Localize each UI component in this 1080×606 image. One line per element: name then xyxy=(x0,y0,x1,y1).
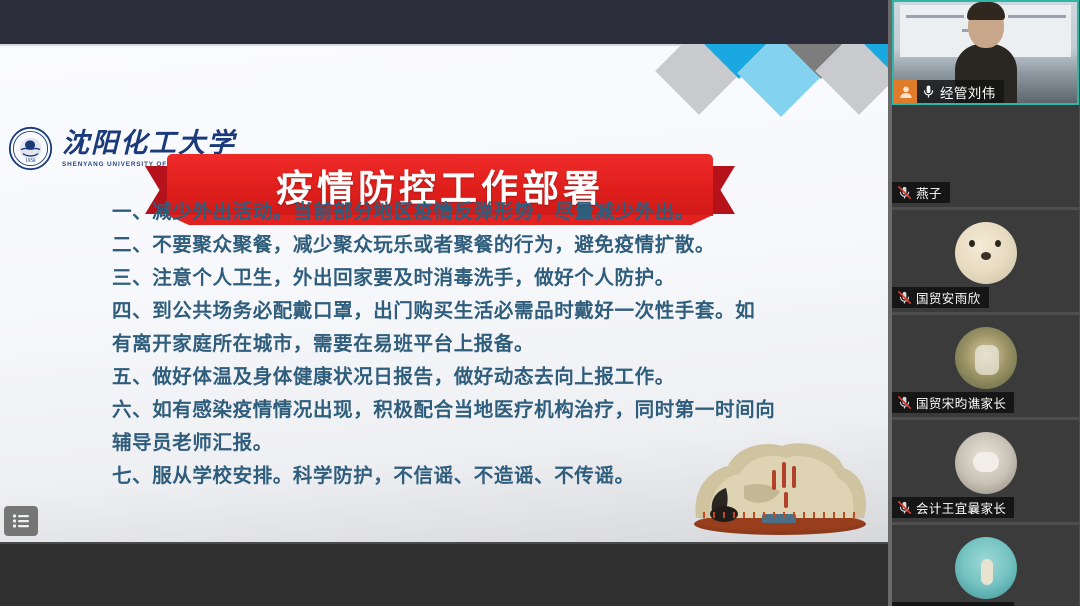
participant-name-badge: 燕子 xyxy=(892,182,950,203)
participant-tile[interactable]: 金融郑小任家长 xyxy=(892,525,1079,606)
participant-filmstrip[interactable]: 经管刘伟 燕子 国贸安雨欣 xyxy=(888,0,1080,606)
participant-name: 国贸安雨欣 xyxy=(916,288,981,307)
participant-name: 燕子 xyxy=(916,183,942,202)
filmstrip-tile-list: 经管刘伟 燕子 国贸安雨欣 xyxy=(892,0,1080,606)
svg-text:1958: 1958 xyxy=(25,158,36,163)
slide-text-line: 一、减少外出活动。当前部分地区疫情反弹形势，尽量减少外出。 xyxy=(112,196,848,229)
slide-text-line: 二、不要聚众聚餐，减少聚众玩乐或者聚餐的行为，避免疫情扩散。 xyxy=(112,229,848,262)
slide-text-line: 四、到公共场务必配戴口罩，出门购买生活必需品时戴好一次性手套。如 xyxy=(112,295,848,328)
slide-text-line: 三、注意个人卫生，外出回家要及时消毒洗手，做好个人防护。 xyxy=(112,262,848,295)
participant-name-badge: 经管刘伟 xyxy=(894,80,1004,103)
microphone-muted-icon xyxy=(897,290,912,305)
participant-name-badge: 金融郑小任家长 xyxy=(892,602,1014,606)
host-avatar xyxy=(894,80,917,103)
avatar xyxy=(955,327,1017,389)
participant-tile[interactable]: 国贸安雨欣 xyxy=(892,210,1079,315)
avatar xyxy=(955,222,1017,284)
microphone-muted-icon xyxy=(897,185,912,200)
participant-name-badge: 会计王宜曩家长 xyxy=(892,497,1014,518)
participant-name: 会计王宜曩家长 xyxy=(916,498,1006,517)
stage-letterbox-top xyxy=(0,0,888,43)
participant-tile[interactable]: 国贸宋昀谯家长 xyxy=(892,315,1079,420)
meeting-window: 1958 沈阳化工大学 SHENYANG UNIVERSITY OF CHEMI… xyxy=(0,0,1080,606)
participant-list-button[interactable] xyxy=(4,506,38,536)
participant-name: 国贸宋昀谯家长 xyxy=(916,393,1006,412)
shared-screen-stage[interactable]: 1958 沈阳化工大学 SHENYANG UNIVERSITY OF CHEMI… xyxy=(0,0,888,606)
tile-media xyxy=(892,525,1079,606)
avatar xyxy=(955,537,1017,599)
stone-monument-image xyxy=(684,426,876,536)
participant-name: 经管刘伟 xyxy=(940,82,996,102)
slide-text-line: 六、如有感染疫情情况出现，积极配合当地医疗机构治疗，同时第一时间向 xyxy=(112,394,848,427)
microphone-muted-icon xyxy=(897,500,912,515)
participant-name-badge: 国贸安雨欣 xyxy=(892,287,989,308)
decorative-diamonds xyxy=(662,44,882,114)
university-seal-icon: 1958 xyxy=(8,126,53,171)
microphone-icon xyxy=(921,83,936,100)
participant-tile[interactable]: 经管刘伟 xyxy=(892,0,1079,105)
presentation-slide: 1958 沈阳化工大学 SHENYANG UNIVERSITY OF CHEMI… xyxy=(0,44,888,544)
avatar xyxy=(955,432,1017,494)
slide-text-line: 有离开家庭所在城市，需要在易班平台上报备。 xyxy=(112,328,848,361)
list-menu-icon xyxy=(12,514,30,528)
host-avatar-icon xyxy=(898,84,914,100)
microphone-muted-icon xyxy=(897,395,912,410)
slide-text-line: 五、做好体温及身体健康状况日报告，做好动态去向上报工作。 xyxy=(112,361,848,394)
participant-tile[interactable]: 燕子 xyxy=(892,105,1079,210)
participant-tile[interactable]: 会计王宜曩家长 xyxy=(892,420,1079,525)
stage-letterbox-bottom xyxy=(0,544,888,606)
participant-name-badge: 国贸宋昀谯家长 xyxy=(892,392,1014,413)
